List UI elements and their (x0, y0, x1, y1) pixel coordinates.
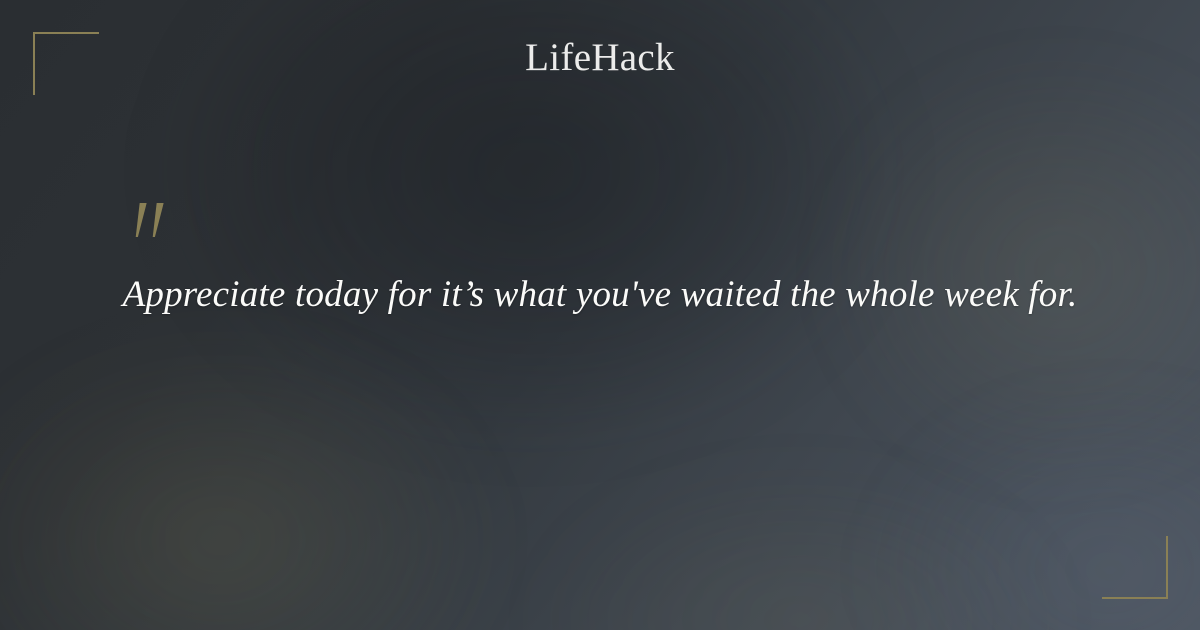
background-warm-glow-left (0, 330, 500, 630)
corner-bracket-bottom-right (1102, 536, 1168, 599)
quotation-mark-stroke-right (149, 203, 163, 237)
corner-bracket-bottom-right-vertical (1166, 536, 1168, 599)
corner-bracket-top-left-horizontal (33, 32, 99, 34)
quote-text: Appreciate today for it’s what you've wa… (100, 268, 1100, 321)
quotation-mark-stroke-left (132, 203, 146, 237)
quotation-mark-icon (133, 203, 177, 243)
background-warm-glow-bottom (540, 470, 1060, 630)
quote-card: LifeHack Appreciate today for it’s what … (0, 0, 1200, 630)
background-cool-glow-bottom-right (880, 400, 1200, 630)
brand-logo: LifeHack (0, 38, 1200, 77)
corner-bracket-bottom-right-horizontal (1102, 597, 1168, 599)
